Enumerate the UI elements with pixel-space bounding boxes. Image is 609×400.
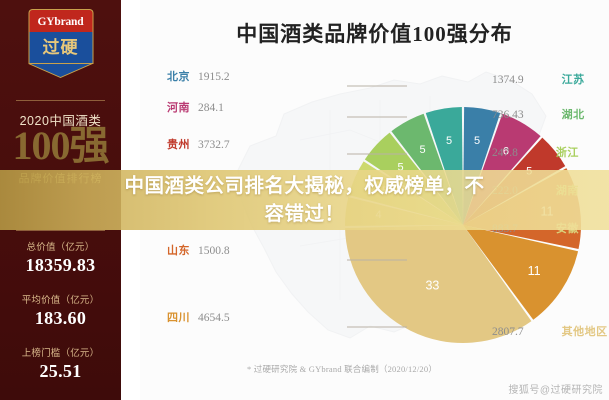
promo-banner-background [0, 170, 609, 230]
slice-label-北京: 北京1915.2 [167, 72, 230, 84]
logo-bottom-band: 过硬 [28, 32, 93, 64]
slice-value-贵州: 3732.7 [198, 139, 230, 151]
slice-label-河南: 河南284.1 [167, 103, 224, 115]
panel-divider-bottom [16, 230, 105, 231]
gybrand-logo: GYbrand 过硬 [28, 9, 93, 77]
stat-average-value-number: 183.60 [0, 308, 121, 329]
slice-label-浙江: 247.8浙江 [492, 148, 579, 160]
slice-name-湖北: 湖北 [562, 109, 585, 121]
stat-total-value: 总价值（亿元） 18359.83 [0, 239, 121, 276]
slice-label-湖北: 736.43湖北 [492, 110, 585, 122]
slice-value-山东: 1500.8 [198, 245, 230, 257]
screenshot-canvas: GYbrand 过硬 2020中国酒类 100强 品牌价值排行榜 总价值（亿元）… [0, 0, 609, 400]
stat-threshold-number: 25.51 [0, 361, 121, 382]
slice-name-其他地区: 其他地区 [562, 326, 608, 338]
shield-point-shape [29, 63, 93, 77]
stat-average-value-label: 平均价值（亿元） [0, 292, 121, 306]
stat-threshold: 上榜门槛（亿元） 25.51 [0, 345, 121, 382]
logo-top-band: GYbrand [28, 9, 93, 33]
logo-brand-text: GYbrand [38, 16, 84, 28]
slice-name-北京: 北京 [167, 71, 190, 83]
slice-label-四川: 四川4654.5 [167, 313, 230, 325]
slice-name-四川: 四川 [167, 312, 190, 324]
slice-label-江苏: 1374.9江苏 [492, 75, 585, 87]
logo-cn-text: 过硬 [43, 39, 79, 56]
slice-value-湖北: 736.43 [492, 109, 524, 121]
slice-name-浙江: 浙江 [556, 147, 579, 159]
slice-value-北京: 1915.2 [198, 71, 230, 83]
stat-total-value-number: 18359.83 [0, 255, 121, 276]
slice-value-浙江: 247.8 [492, 147, 518, 159]
slice-value-四川: 4654.5 [198, 312, 230, 324]
stat-threshold-label: 上榜门槛（亿元） [0, 345, 121, 359]
shield-icon: GYbrand 过硬 [28, 9, 93, 71]
panel-big-number: 100强 [0, 126, 121, 166]
slice-name-贵州: 贵州 [167, 139, 190, 151]
slice-value-其他地区: 2807.7 [492, 326, 524, 338]
stat-average-value: 平均价值（亿元） 183.60 [0, 292, 121, 329]
stat-total-value-label: 总价值（亿元） [0, 239, 121, 253]
panel-divider-top [16, 100, 105, 101]
slice-value-江苏: 1374.9 [492, 74, 524, 86]
slice-label-山东: 山东1500.8 [167, 246, 230, 258]
slice-value-河南: 284.1 [198, 102, 224, 114]
chart-footnote: * 过硬研究院 & GYbrand 联合编制（2020/12/20） [247, 363, 437, 375]
slice-name-江苏: 江苏 [562, 74, 585, 86]
slice-name-山东: 山东 [167, 245, 190, 257]
chart-watermark: 搜狐号@过硬研究院 [508, 381, 603, 396]
slice-label-其他地区: 2807.7其他地区 [492, 327, 608, 339]
slice-name-河南: 河南 [167, 102, 190, 114]
slice-label-贵州: 贵州3732.7 [167, 140, 230, 152]
